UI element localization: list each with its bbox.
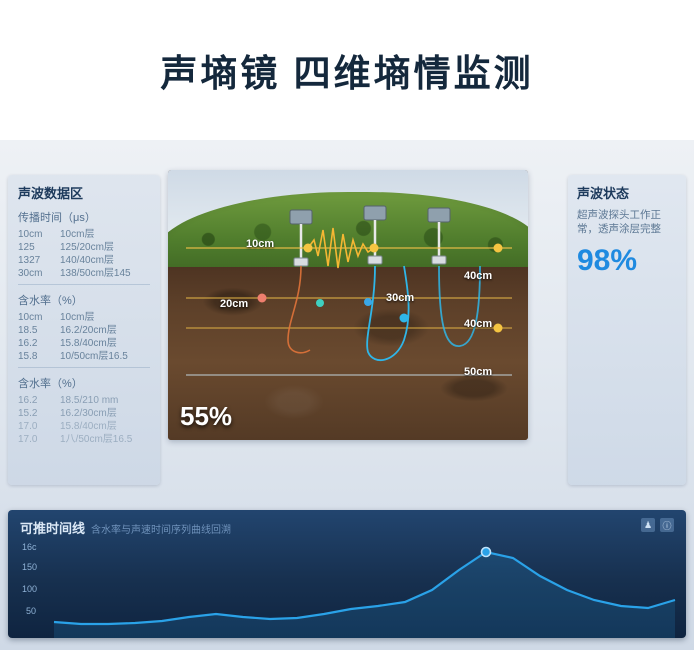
- highlight-point: [482, 548, 491, 557]
- soil-profile-scene: 10cm 20cm 30cm 40cm 40cm 50cm 55%: [168, 170, 528, 440]
- data-cell: 1八/50cm层16.5: [60, 433, 150, 446]
- data-cell: 10/50cm层16.5: [60, 350, 150, 363]
- timeline-chart-svg[interactable]: 16c 150 100 50: [8, 534, 686, 638]
- data-row: 17.0 15.8/40cm层: [18, 420, 150, 433]
- sound-status-title: 声波状态: [577, 183, 677, 202]
- data-point: [494, 324, 503, 333]
- data-row: 10cm 10cm层: [18, 228, 150, 241]
- data-row: 17.0 1八/50cm层16.5: [18, 433, 150, 446]
- data-cell: 16.2: [18, 394, 60, 407]
- moisture-percent-label: 55%: [180, 401, 232, 432]
- data-point: [316, 299, 324, 307]
- depth-label: 30cm: [386, 292, 414, 304]
- data-cell: 17.0: [18, 420, 60, 433]
- sound-data-panel: 声波数据区 传播时间（μs） 10cm 10cm层 125 125/20cm层 …: [8, 175, 160, 485]
- data-row: 16.2 18.5/210 mm: [18, 394, 150, 407]
- data-cell: 10cm: [18, 228, 60, 241]
- data-cell: 16.2/20cm层: [60, 324, 150, 337]
- depth-label: 50cm: [464, 366, 492, 378]
- data-cell: 125: [18, 241, 60, 254]
- dashboard: 声波数据区 传播时间（μs） 10cm 10cm层 125 125/20cm层 …: [0, 140, 694, 650]
- data-row: 10cm 10cm层: [18, 311, 150, 324]
- y-tick-label: 16c: [22, 542, 37, 552]
- data-row: 18.5 16.2/20cm层: [18, 324, 150, 337]
- data-cell: 140/40cm层: [60, 254, 150, 267]
- section-label-moisture-2: 含水率（%）: [18, 375, 150, 391]
- section-label-moisture-1: 含水率（%）: [18, 292, 150, 308]
- sound-status-panel: 声波状态 超声波探头工作正常，透声涂层完整 98%: [568, 175, 686, 485]
- data-point: [400, 314, 409, 323]
- data-point: [364, 298, 372, 306]
- data-cell: 18.5: [18, 324, 60, 337]
- depth-label: 40cm: [464, 318, 492, 330]
- data-point: [258, 294, 267, 303]
- data-point: [494, 244, 503, 253]
- depth-label: 40cm: [464, 270, 492, 282]
- trace-blue: [367, 266, 408, 360]
- info-icon[interactable]: ⓘ: [660, 518, 674, 532]
- data-row: 15.8 10/50cm层16.5: [18, 350, 150, 363]
- data-cell: 10cm层: [60, 311, 150, 324]
- data-cell: 17.0: [18, 433, 60, 446]
- y-tick-label: 150: [22, 562, 37, 572]
- data-row: 1327 140/40cm层: [18, 254, 150, 267]
- data-cell: 16.2: [18, 337, 60, 350]
- timeline-chart-icons: ♟ ⓘ: [641, 518, 674, 532]
- data-cell: 16.2/30cm层: [60, 407, 150, 420]
- sensor-pole-3: [428, 208, 450, 264]
- data-cell: 10cm: [18, 311, 60, 324]
- title-bar: 声墒镜 四维墒情监测: [0, 0, 694, 140]
- data-row: 125 125/20cm层: [18, 241, 150, 254]
- data-cell: 30cm: [18, 267, 60, 280]
- section-label-propagation: 传播时间（μs）: [18, 209, 150, 225]
- depth-label: 10cm: [246, 238, 274, 250]
- data-cell: 138/50cm层145: [60, 267, 150, 280]
- data-point: [304, 244, 313, 253]
- y-tick-label: 100: [22, 584, 37, 594]
- sound-status-percent: 98%: [577, 244, 677, 278]
- sound-data-panel-title: 声波数据区: [18, 183, 150, 202]
- sensor-pole-1: [290, 210, 312, 266]
- data-row: 16.2 15.8/40cm层: [18, 337, 150, 350]
- data-point: [370, 244, 379, 253]
- sensor-pole-2: [364, 206, 386, 264]
- y-tick-label: 50: [26, 606, 36, 616]
- trace-orange: [288, 266, 310, 353]
- divider: [18, 284, 150, 285]
- data-cell: 15.8/40cm层: [60, 337, 150, 350]
- data-cell: 1327: [18, 254, 60, 267]
- data-row: 15.2 16.2/30cm层: [18, 407, 150, 420]
- sound-status-description: 超声波探头工作正常，透声涂层完整: [577, 208, 677, 236]
- data-row: 30cm 138/50cm层145: [18, 267, 150, 280]
- data-cell: 15.8/40cm层: [60, 420, 150, 433]
- data-cell: 15.8: [18, 350, 60, 363]
- divider: [18, 367, 150, 368]
- timeline-chart-card: 可推时间线 含水率与声速时间序列曲线回溯 ♟ ⓘ 16c 150 100 50: [8, 510, 686, 638]
- page-root: 声墒镜 四维墒情监测 声波数据区 传播时间（μs） 10cm 10cm层 125…: [0, 0, 694, 650]
- depth-label: 20cm: [220, 298, 248, 310]
- data-cell: 125/20cm层: [60, 241, 150, 254]
- data-cell: 10cm层: [60, 228, 150, 241]
- person-icon[interactable]: ♟: [641, 518, 655, 532]
- data-cell: 18.5/210 mm: [60, 394, 150, 407]
- data-cell: 15.2: [18, 407, 60, 420]
- page-title: 声墒镜 四维墒情监测: [160, 43, 533, 97]
